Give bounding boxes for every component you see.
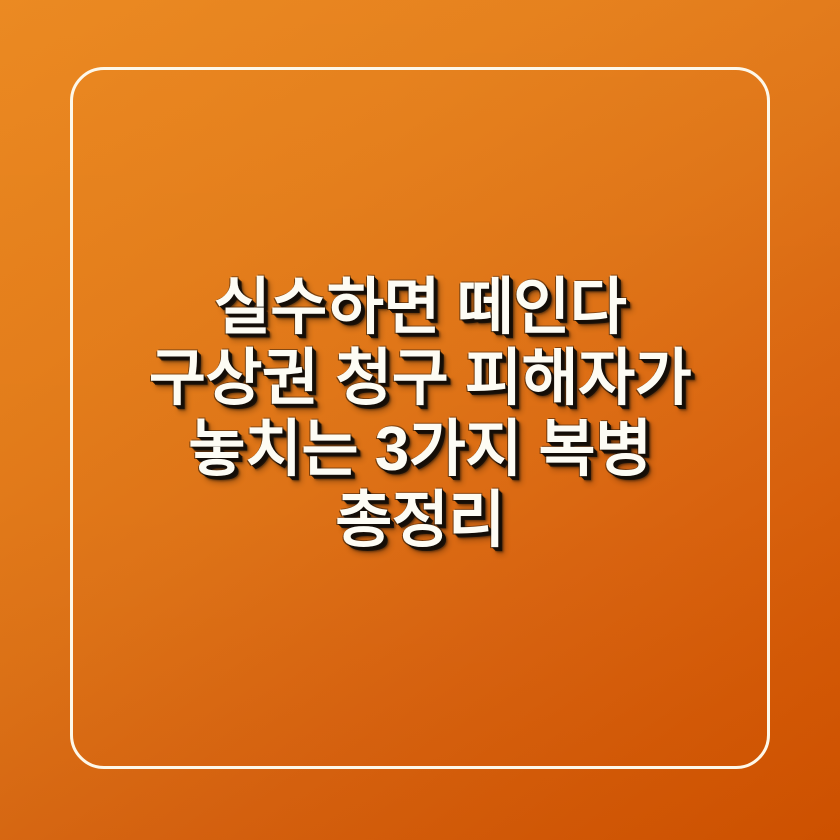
- thumbnail-card: 실수하면 떼인다 구상권 청구 피해자가 놓치는 3가지 복병 총정리: [0, 0, 840, 840]
- title-line-2: 구상권 청구 피해자가: [78, 343, 762, 414]
- title-line-4: 총정리: [78, 485, 762, 556]
- title-line-1: 실수하면 떼인다: [78, 272, 762, 343]
- title-block: 실수하면 떼인다 구상권 청구 피해자가 놓치는 3가지 복병 총정리: [0, 272, 840, 556]
- title-line-3: 놓치는 3가지 복병: [78, 414, 762, 485]
